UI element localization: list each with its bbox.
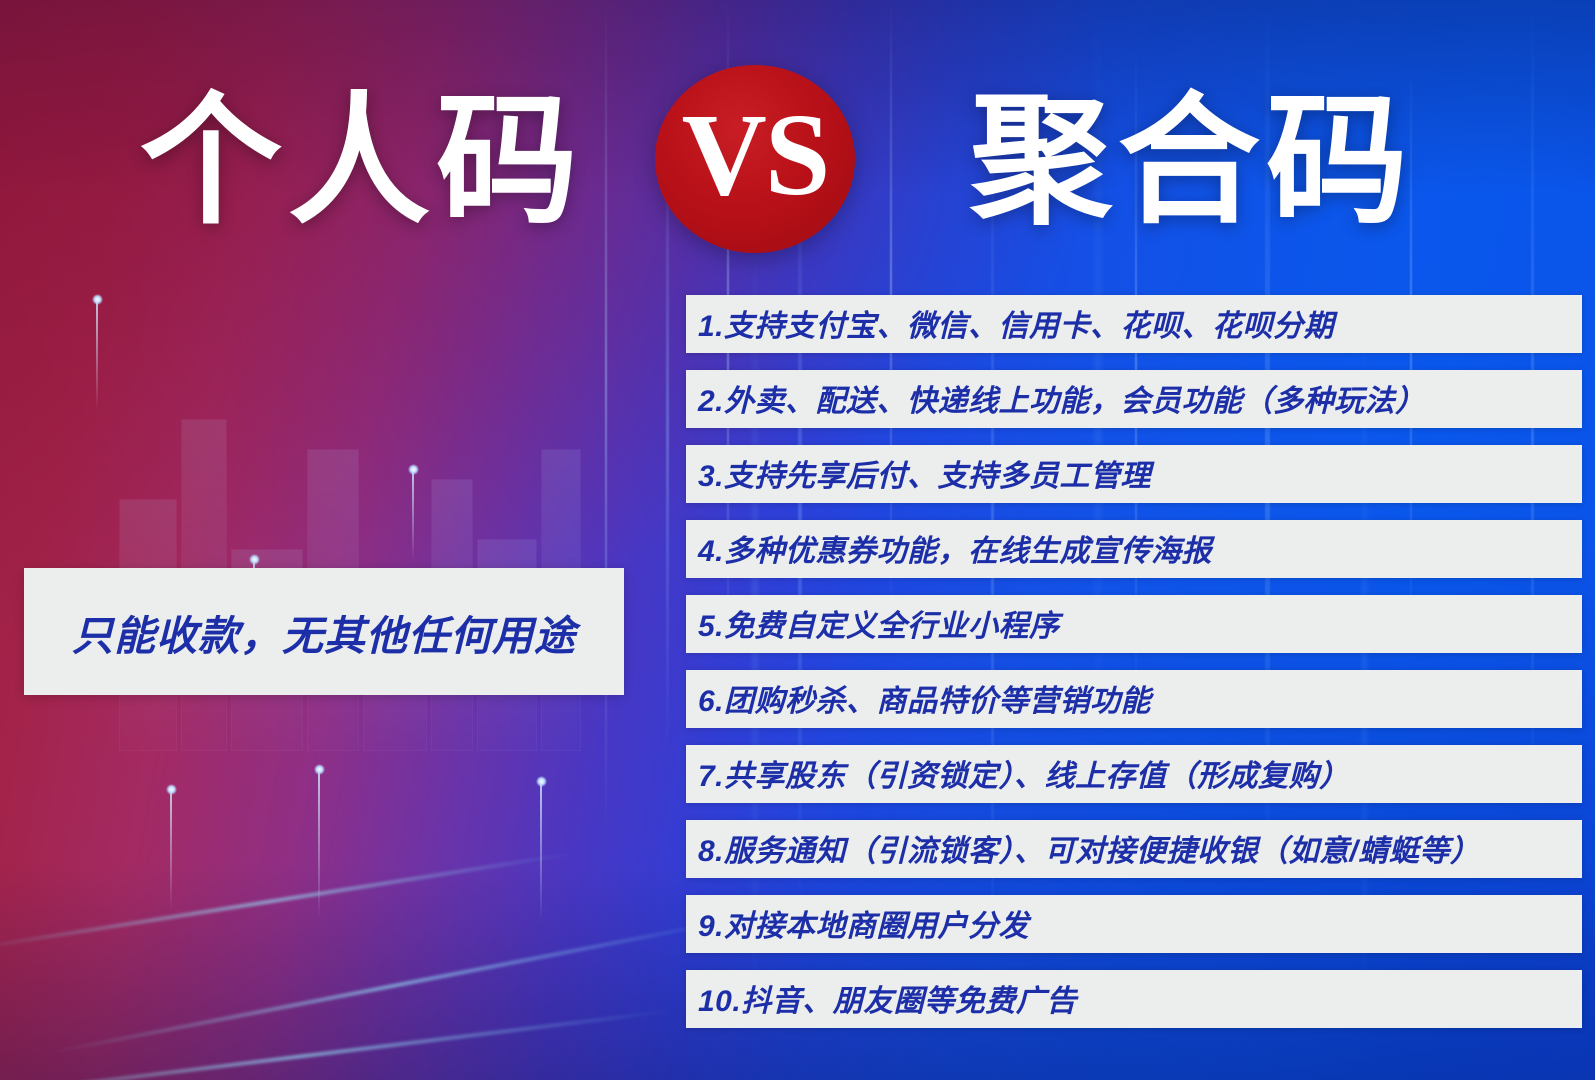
feature-item-label: 1.支持支付宝、微信、信用卡、花呗、花呗分期 — [698, 301, 1334, 345]
background-perspective-grid — [0, 780, 740, 1080]
feature-item: 8.服务通知（引流锁客）、可对接便捷收银（如意/蜻蜓等） — [686, 820, 1582, 878]
feature-item-label: 6.团购秒杀、商品特价等营销功能 — [698, 676, 1151, 720]
feature-list: 1.支持支付宝、微信、信用卡、花呗、花呗分期 2.外卖、配送、快递线上功能，会员… — [686, 295, 1582, 1045]
feature-item-label: 2.外卖、配送、快递线上功能，会员功能（多种玩法） — [698, 376, 1426, 420]
feature-item: 6.团购秒杀、商品特价等营销功能 — [686, 670, 1582, 728]
poster-canvas: 个人码 VS 聚合码 只能收款，无其他任何用途 1.支持支付宝、微信、信用卡、花… — [0, 0, 1595, 1080]
background-glow-pin — [412, 470, 414, 560]
feature-item: 3.支持先享后付、支持多员工管理 — [686, 445, 1582, 503]
feature-item-label: 7.共享股东（引资锁定）、线上存值（形成复购） — [698, 751, 1350, 795]
feature-item-label: 3.支持先享后付、支持多员工管理 — [698, 451, 1151, 495]
vs-label: VS — [682, 87, 829, 223]
left-callout-box: 只能收款，无其他任何用途 — [24, 568, 624, 695]
feature-item-label: 5.免费自定义全行业小程序 — [698, 601, 1060, 645]
feature-item: 9.对接本地商圈用户分发 — [686, 895, 1582, 953]
feature-item-label: 9.对接本地商圈用户分发 — [698, 901, 1029, 945]
page-title-right: 聚合码 — [970, 62, 1414, 262]
vs-badge: VS — [655, 65, 855, 253]
feature-item-label: 8.服务通知（引流锁客）、可对接便捷收银（如意/蜻蜓等） — [698, 826, 1480, 870]
background-glow-pin — [96, 300, 98, 410]
headline-row: 个人码 VS 聚合码 — [0, 62, 1595, 262]
background-glow-pin — [170, 790, 172, 910]
left-callout-text: 只能收款，无其他任何用途 — [72, 602, 576, 662]
feature-item-label: 4.多种优惠券功能，在线生成宣传海报 — [698, 526, 1212, 570]
background-glow-pin — [318, 770, 320, 920]
feature-item-label: 10.抖音、朋友圈等免费广告 — [698, 976, 1077, 1020]
feature-item: 4.多种优惠券功能，在线生成宣传海报 — [686, 520, 1582, 578]
feature-item: 2.外卖、配送、快递线上功能，会员功能（多种玩法） — [686, 370, 1582, 428]
feature-item: 10.抖音、朋友圈等免费广告 — [686, 970, 1582, 1028]
background-glow-pin — [540, 782, 542, 922]
page-title-left: 个人码 — [140, 62, 584, 262]
feature-item: 5.免费自定义全行业小程序 — [686, 595, 1582, 653]
feature-item: 1.支持支付宝、微信、信用卡、花呗、花呗分期 — [686, 295, 1582, 353]
feature-item: 7.共享股东（引资锁定）、线上存值（形成复购） — [686, 745, 1582, 803]
